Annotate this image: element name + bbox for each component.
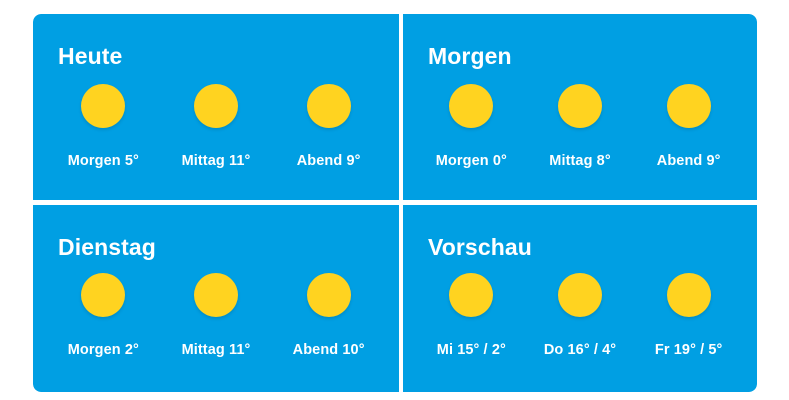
forecast-slot[interactable]: Morgen 5° bbox=[48, 84, 158, 169]
forecast-slot-label: Abend 9° bbox=[657, 154, 721, 169]
forecast-panel-dienstag[interactable]: Dienstag Morgen 2° Mittag 11° Abend 10° bbox=[33, 205, 399, 392]
forecast-slot-label: Mittag 8° bbox=[549, 154, 610, 169]
sun-icon bbox=[449, 273, 493, 317]
forecast-panel-morgen[interactable]: Morgen Morgen 0° Mittag 8° Abend 9° bbox=[403, 14, 757, 200]
forecast-slot[interactable]: Abend 10° bbox=[274, 273, 384, 358]
forecast-slot-label: Mittag 11° bbox=[182, 343, 251, 358]
forecast-slot-row-vorschau: Mi 15° / 2° Do 16° / 4° Fr 19° / 5° bbox=[403, 273, 757, 358]
forecast-slot[interactable]: Morgen 2° bbox=[48, 273, 158, 358]
sun-icon bbox=[81, 273, 125, 317]
forecast-slot-label: Abend 9° bbox=[297, 154, 361, 169]
forecast-slot[interactable]: Mittag 11° bbox=[161, 273, 271, 358]
panel-title-heute: Heute bbox=[58, 43, 122, 70]
forecast-slot[interactable]: Morgen 0° bbox=[417, 84, 526, 169]
forecast-slot-label: Mi 15° / 2° bbox=[437, 343, 506, 358]
weather-forecast-widget: Heute Morgen 5° Mittag 11° Abend 9° Morg… bbox=[33, 14, 757, 392]
sun-icon bbox=[558, 84, 602, 128]
sun-icon bbox=[81, 84, 125, 128]
forecast-slot-label: Do 16° / 4° bbox=[544, 343, 616, 358]
sun-icon bbox=[667, 273, 711, 317]
sun-icon bbox=[194, 84, 238, 128]
forecast-slot[interactable]: Do 16° / 4° bbox=[526, 273, 635, 358]
forecast-slot-row-dienstag: Morgen 2° Mittag 11° Abend 10° bbox=[33, 273, 399, 358]
forecast-slot-label: Morgen 2° bbox=[68, 343, 139, 358]
sun-icon bbox=[307, 273, 351, 317]
forecast-slot-row-heute: Morgen 5° Mittag 11° Abend 9° bbox=[33, 84, 399, 169]
forecast-slot[interactable]: Abend 9° bbox=[274, 84, 384, 169]
forecast-slot[interactable]: Mittag 11° bbox=[161, 84, 271, 169]
forecast-slot-label: Morgen 5° bbox=[68, 154, 139, 169]
forecast-slot[interactable]: Mittag 8° bbox=[526, 84, 635, 169]
forecast-slot-label: Fr 19° / 5° bbox=[655, 343, 723, 358]
forecast-slot[interactable]: Mi 15° / 2° bbox=[417, 273, 526, 358]
forecast-slot-label: Mittag 11° bbox=[182, 154, 251, 169]
forecast-panel-vorschau[interactable]: Vorschau Mi 15° / 2° Do 16° / 4° Fr 19° … bbox=[403, 205, 757, 392]
sun-icon bbox=[307, 84, 351, 128]
forecast-slot[interactable]: Abend 9° bbox=[634, 84, 743, 169]
forecast-slot-label: Abend 10° bbox=[293, 343, 365, 358]
sun-icon bbox=[558, 273, 602, 317]
panel-title-morgen: Morgen bbox=[428, 43, 512, 70]
forecast-slot-label: Morgen 0° bbox=[436, 154, 507, 169]
forecast-slot[interactable]: Fr 19° / 5° bbox=[634, 273, 743, 358]
sun-icon bbox=[667, 84, 711, 128]
sun-icon bbox=[449, 84, 493, 128]
forecast-panel-heute[interactable]: Heute Morgen 5° Mittag 11° Abend 9° bbox=[33, 14, 399, 200]
panel-title-dienstag: Dienstag bbox=[58, 234, 156, 261]
panel-title-vorschau: Vorschau bbox=[428, 234, 532, 261]
forecast-slot-row-morgen: Morgen 0° Mittag 8° Abend 9° bbox=[403, 84, 757, 169]
sun-icon bbox=[194, 273, 238, 317]
